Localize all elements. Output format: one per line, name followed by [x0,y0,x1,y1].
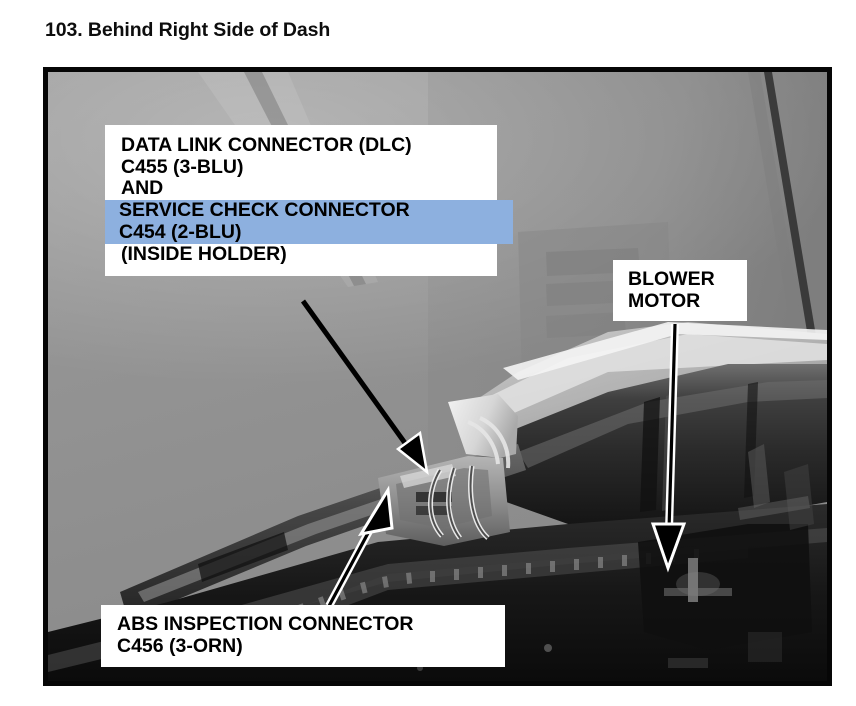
page-title: 103. Behind Right Side of Dash [45,19,330,42]
blower-motor-callout: BLOWER MOTOR [613,260,747,321]
photo-frame: DATA LINK CONNECTOR (DLC) C455 (3-BLU) A… [43,67,832,686]
callout-line: ABS INSPECTION CONNECTOR [115,614,505,636]
callout-line-highlighted: SERVICE CHECK CONNECTOR [105,200,513,222]
data-link-connector-callout: DATA LINK CONNECTOR (DLC) C455 (3-BLU) A… [105,125,497,276]
callout-line: MOTOR [626,291,747,313]
callout-line: (INSIDE HOLDER) [119,244,497,266]
callout-line: BLOWER [626,269,747,291]
callout-line: AND [119,178,497,200]
callout-line: C455 (3-BLU) [119,157,497,179]
callout-line: DATA LINK CONNECTOR (DLC) [119,135,497,157]
callout-line: C456 (3-ORN) [115,636,505,658]
abs-inspection-connector-callout: ABS INSPECTION CONNECTOR C456 (3-ORN) [101,605,505,667]
callout-line-highlighted: C454 (2-BLU) [105,222,513,244]
